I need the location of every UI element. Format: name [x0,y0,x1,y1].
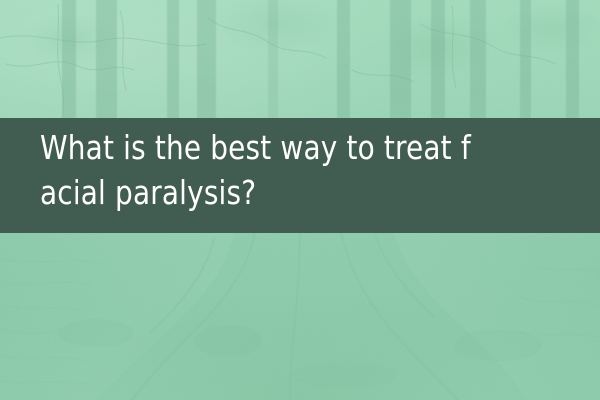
caption-text: What is the best way to treat f acial pa… [40,125,566,215]
caption-banner: What is the best way to treat f acial pa… [0,118,600,233]
screenshot-canvas: What is the best way to treat f acial pa… [0,0,600,400]
